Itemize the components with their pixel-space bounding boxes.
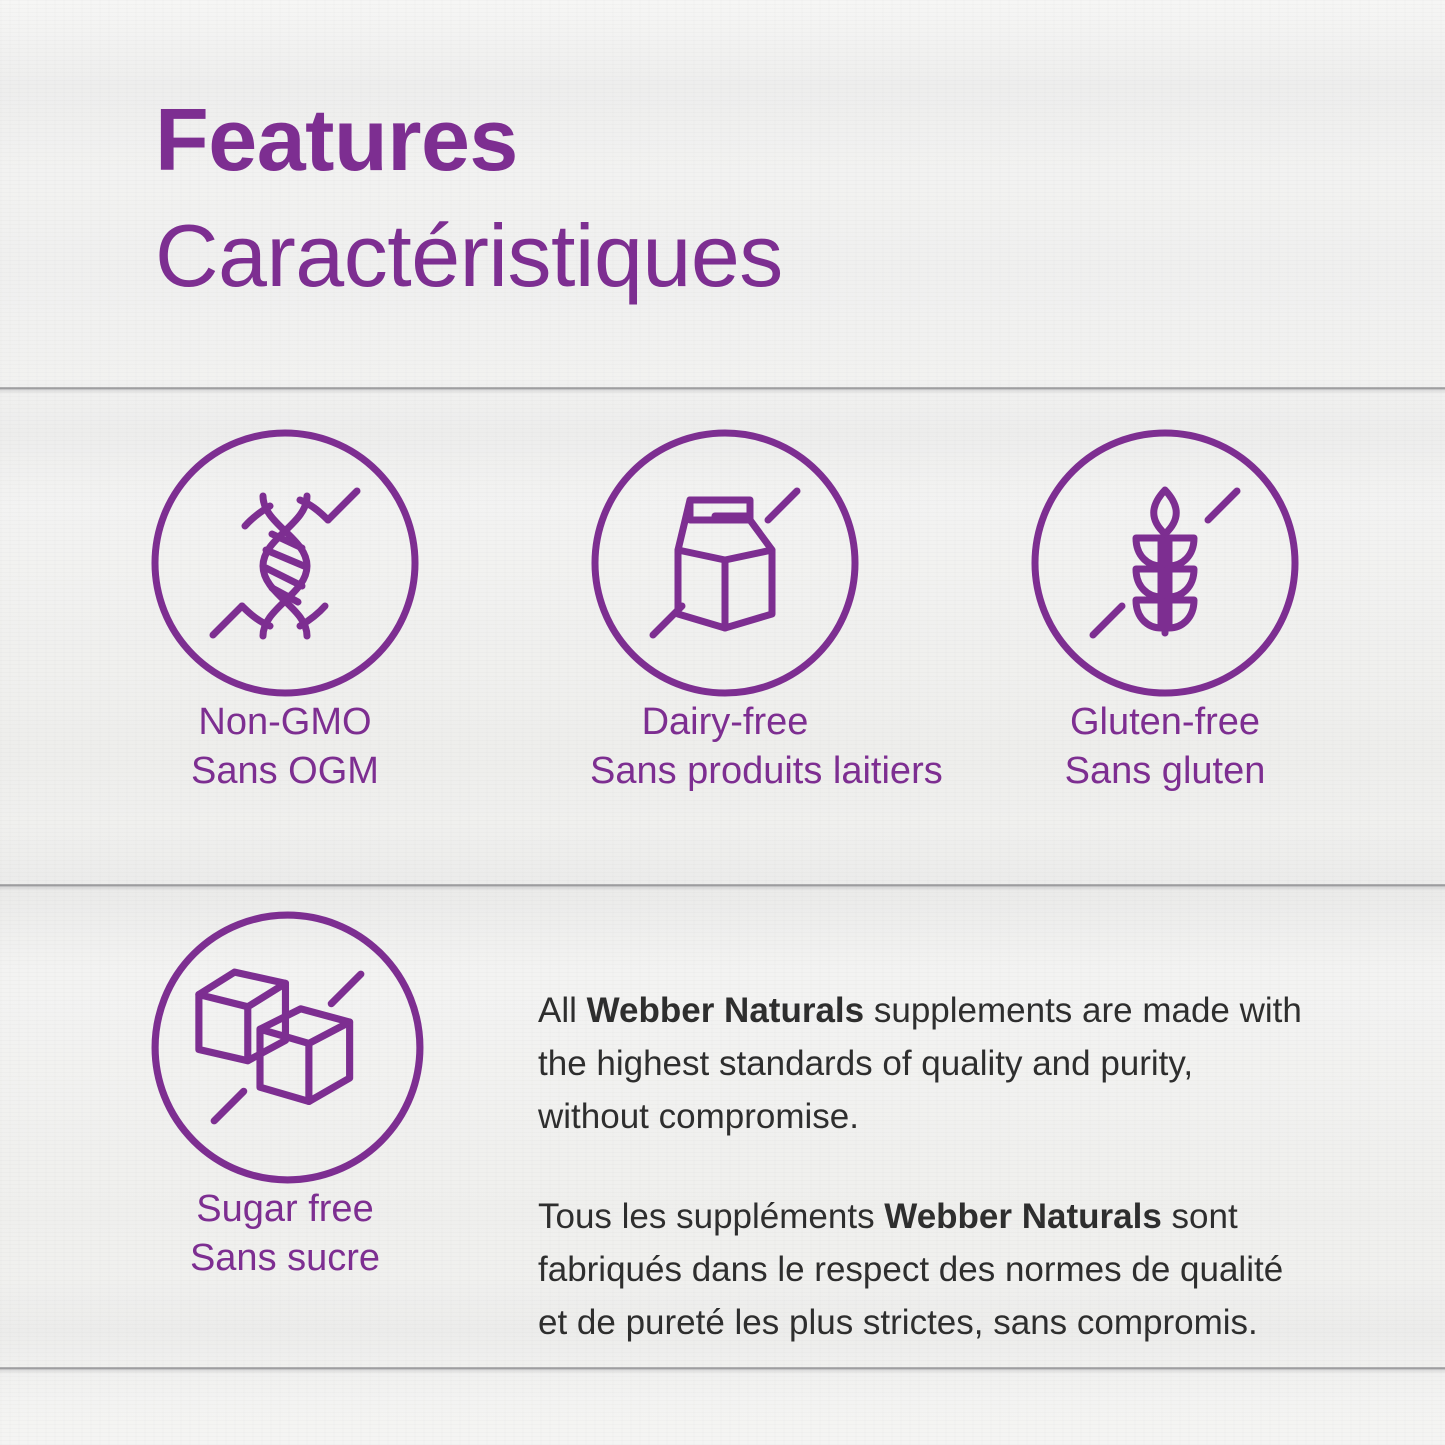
plank-seam-top <box>0 387 1445 390</box>
feature-label-dairy-free: Dairy-free Sans produits laitiers <box>590 698 860 795</box>
feature-gluten-free: Gluten-free Sans gluten <box>1030 428 1300 795</box>
plank-seam-bottom <box>0 1367 1445 1370</box>
feature-label-fr: Sans sucre <box>150 1234 420 1283</box>
page-title-english: Features <box>155 96 783 184</box>
body-paragraph-french: Tous les suppléments Webber Naturals son… <box>538 1190 1313 1350</box>
feature-label-fr: Sans gluten <box>1030 747 1300 796</box>
feature-label-fr: Sans produits laitiers <box>590 747 860 796</box>
feature-label-gluten-free: Gluten-free Sans gluten <box>1030 698 1300 795</box>
feature-infographic: Features Caractéristiques <box>0 0 1445 1445</box>
page-title-french: Caractéristiques <box>155 212 783 300</box>
no-sugar-icon <box>150 910 425 1185</box>
body-fr-before: Tous les suppléments <box>538 1197 884 1236</box>
feature-dairy-free: Dairy-free Sans produits laitiers <box>590 428 860 795</box>
page-title: Features Caractéristiques <box>155 96 783 300</box>
body-copy: All Webber Naturals supplements are made… <box>538 984 1313 1349</box>
feature-label-fr: Sans OGM <box>150 747 420 796</box>
feature-non-gmo: Non-GMO Sans OGM <box>150 428 420 795</box>
plank-seam-middle <box>0 884 1445 887</box>
body-paragraph-english: All Webber Naturals supplements are made… <box>538 984 1313 1144</box>
feature-sugar-free: Sugar free Sans sucre <box>150 910 420 1282</box>
feature-label-sugar-free: Sugar free Sans sucre <box>150 1185 420 1282</box>
no-dairy-icon <box>590 428 860 698</box>
feature-label-en: Dairy-free <box>590 698 860 747</box>
feature-label-en: Non-GMO <box>150 698 420 747</box>
brand-name-en: Webber Naturals <box>587 991 865 1030</box>
body-en-before: All <box>538 991 587 1030</box>
no-gluten-icon <box>1030 428 1300 698</box>
feature-label-non-gmo: Non-GMO Sans OGM <box>150 698 420 795</box>
feature-label-en: Gluten-free <box>1030 698 1300 747</box>
brand-name-fr: Webber Naturals <box>884 1197 1162 1236</box>
feature-label-en: Sugar free <box>150 1185 420 1234</box>
no-gmo-icon <box>150 428 420 698</box>
